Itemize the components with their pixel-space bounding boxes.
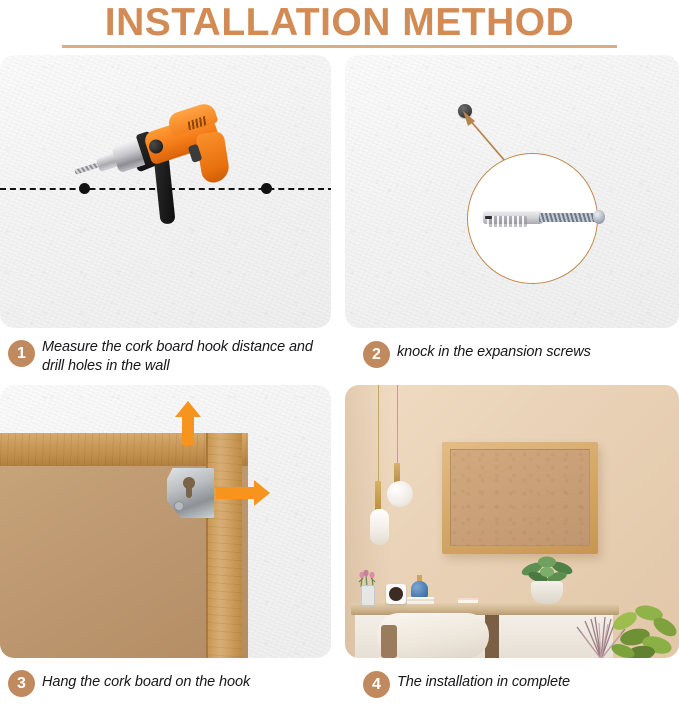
wood-grain-texture: [206, 433, 242, 658]
frame-bevel-line: [206, 433, 208, 658]
mounted-cork-board: [442, 442, 598, 554]
pendant-cord: [378, 385, 379, 481]
step-number-badge-3: 3: [8, 670, 35, 697]
glass-vase: [361, 585, 375, 606]
drill-side-handle: [154, 157, 176, 224]
steps-grid: 1 Measure the cork board hook distance a…: [0, 55, 679, 703]
step-4-illustration: [345, 385, 679, 658]
step-2-caption-text: knock in the expansion screws: [397, 338, 679, 362]
keyhole-slot: [186, 485, 192, 498]
step-card-4: 4 The installation in complete: [345, 385, 679, 710]
cork-surface: [450, 449, 590, 546]
screw-head: [593, 210, 605, 224]
stacked-books: [458, 598, 478, 603]
chair-leg: [381, 625, 397, 658]
pendant-globe-light-icon: [387, 481, 413, 507]
step-3-caption-text: Hang the cork board on the hook: [42, 668, 334, 692]
step-1-caption-text: Measure the cork board hook distance and…: [42, 338, 334, 376]
stacked-books: [407, 597, 434, 604]
left-hole-mark-icon: [79, 183, 90, 194]
wooden-frame-side-rail: [206, 433, 242, 658]
page-title: INSTALLATION METHOD: [0, 0, 679, 45]
step-3-caption-row: 3 Hang the cork board on the hook: [0, 668, 334, 710]
step-number-badge-4: 4: [363, 671, 390, 698]
leafy-floor-plant-icon: [605, 601, 679, 658]
step-card-1: 1 Measure the cork board hook distance a…: [0, 55, 334, 380]
step-4-caption-text: The installation in complete: [397, 668, 679, 692]
step-card-2: 2 knock in the expansion screws: [345, 55, 679, 380]
plug-tip-slot: [485, 216, 492, 219]
clock-face: [389, 587, 403, 601]
white-planter: [531, 581, 563, 604]
arrow-up-icon: [174, 401, 202, 445]
step-1-illustration: [0, 55, 331, 328]
pendant-cord: [397, 385, 398, 463]
pendant-brass-stem: [375, 481, 381, 511]
screw-threaded-shaft: [539, 213, 597, 222]
table-clock-icon: [386, 584, 406, 604]
bracket-screw-hole: [174, 501, 184, 511]
step-2-illustration: [345, 55, 679, 328]
plug-ribs: [487, 216, 527, 227]
pendant-brass-stem: [394, 463, 400, 483]
expansion-screw-assembly-icon: [483, 207, 607, 227]
step-number-badge-1: 1: [8, 340, 35, 367]
step-3-illustration: [0, 385, 331, 658]
title-underline-divider: [62, 45, 617, 48]
step-2-caption-row: 2 knock in the expansion screws: [345, 338, 679, 380]
step-4-caption-row: 4 The installation in complete: [345, 668, 679, 710]
step-number-badge-2: 2: [363, 341, 390, 368]
step-card-3: 3 Hang the cork board on the hook: [0, 385, 334, 710]
step-1-caption-row: 1 Measure the cork board hook distance a…: [0, 338, 334, 380]
arrow-right-icon: [216, 479, 270, 507]
pendant-cylinder-light-icon: [370, 509, 389, 545]
plastic-wall-plug: [483, 211, 545, 224]
page-header: INSTALLATION METHOD: [0, 0, 679, 52]
